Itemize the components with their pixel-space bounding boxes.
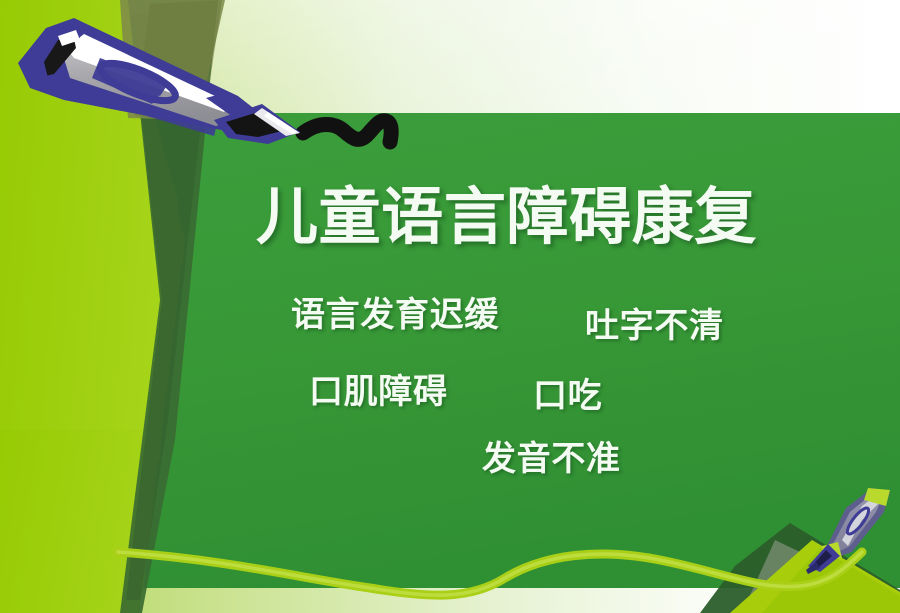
poster-artwork	[0, 0, 900, 613]
poster-canvas: 儿童语言障碍康复 语言发育迟缓 吐字不清 口肌障碍 口吃 发音不准	[0, 0, 900, 613]
